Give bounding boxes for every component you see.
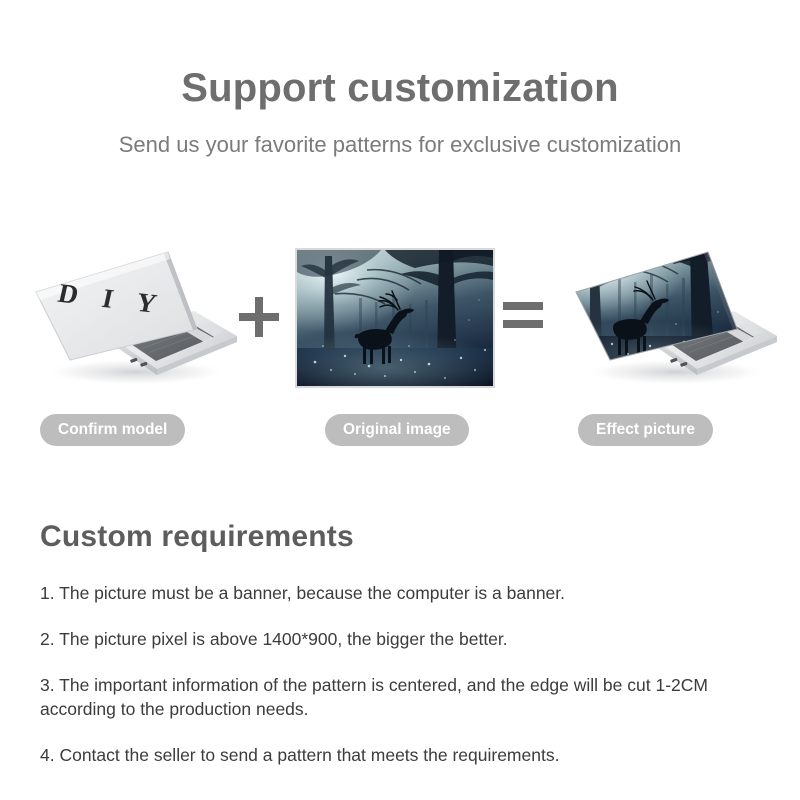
composition-item-effect-picture (558, 232, 783, 392)
caption-confirm-model: Confirm model (40, 414, 185, 446)
requirement-item-3: 3. The important information of the patt… (40, 673, 756, 721)
page-subtitle: Send us your favorite patterns for exclu… (0, 132, 800, 158)
requirement-item-1: 1. The picture must be a banner, because… (40, 581, 756, 605)
composition-item-confirm-model: D I Y (18, 232, 243, 392)
requirement-item-4: 4. Contact the seller to send a pattern … (40, 743, 756, 767)
custom-requirements-section: Custom requirements 1. The picture must … (40, 520, 756, 767)
plus-icon (232, 232, 292, 392)
caption-original-image: Original image (325, 414, 469, 446)
original-image-frame (295, 248, 495, 388)
laptop-with-forest-deer-skin-image (558, 232, 783, 392)
equals-icon (498, 232, 558, 392)
caption-row: Confirm model Original image Effect pict… (0, 414, 800, 448)
white-laptop-rear-angled-image (18, 232, 243, 392)
composition-item-original-image (290, 232, 505, 392)
caption-effect-picture: Effect picture (578, 414, 713, 446)
custom-requirements-title: Custom requirements (40, 520, 756, 555)
customization-promo-page: Support customization Send us your favor… (0, 0, 800, 800)
requirement-item-2: 2. The picture pixel is above 1400*900, … (40, 627, 756, 651)
custom-requirements-list: 1. The picture must be a banner, because… (40, 581, 756, 768)
misty-forest-deer-photo (297, 250, 493, 386)
page-title: Support customization (0, 66, 800, 110)
page-header: Support customization Send us your favor… (0, 66, 800, 158)
